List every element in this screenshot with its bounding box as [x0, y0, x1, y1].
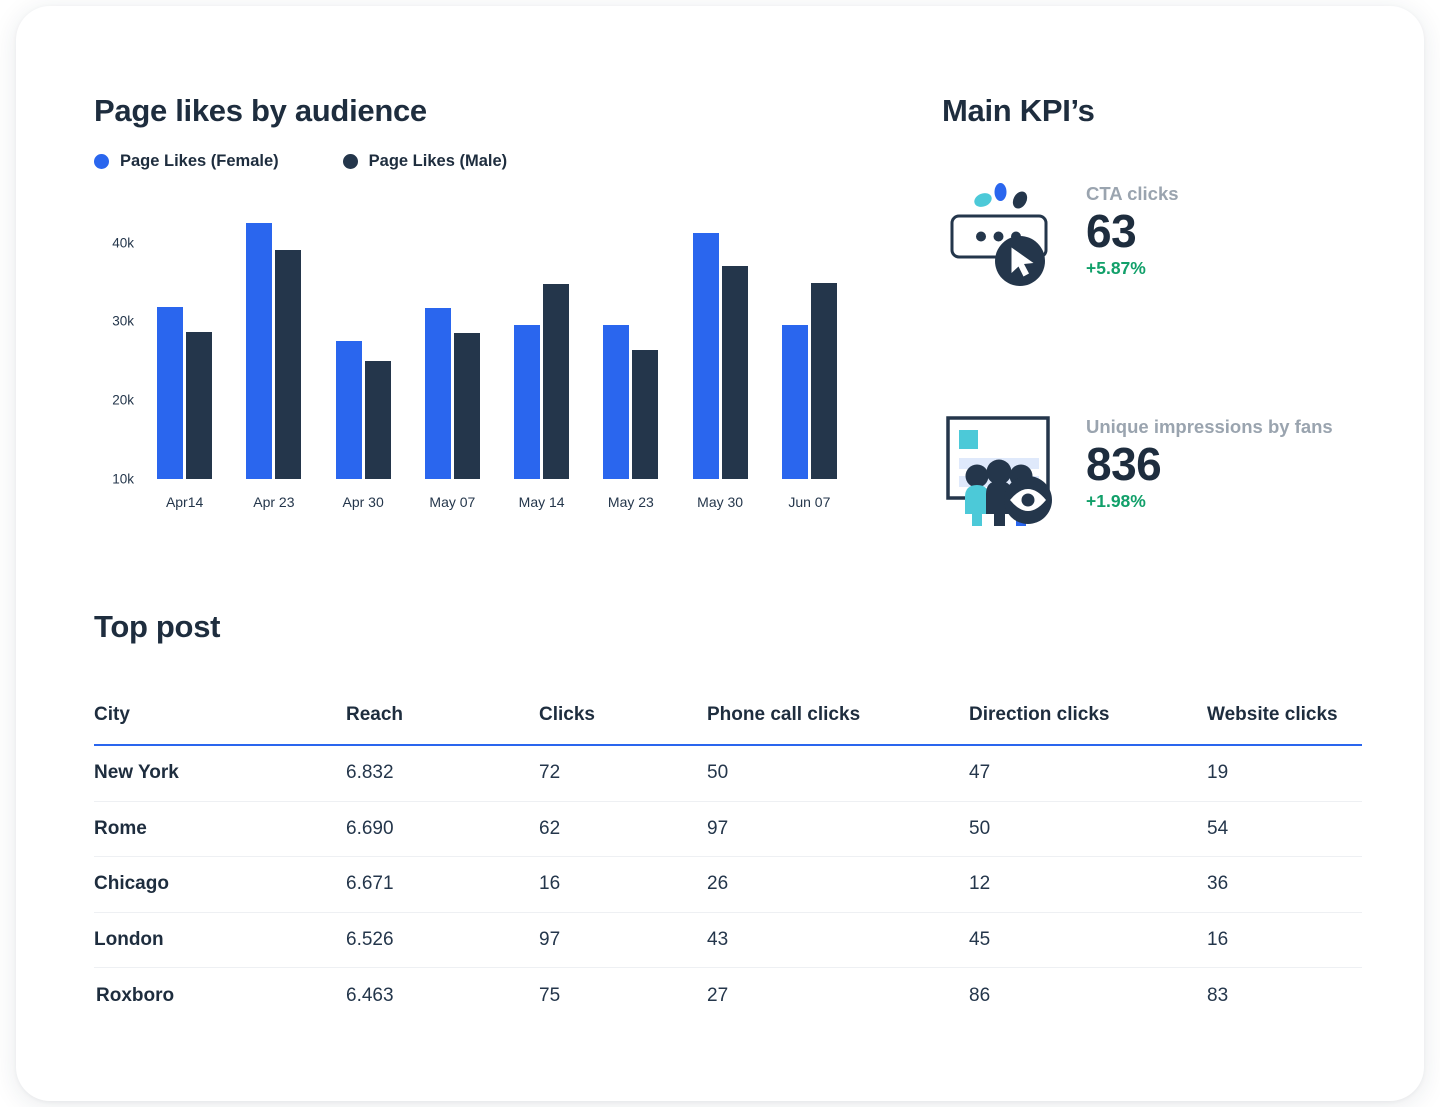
table-cell-reach: 6.671: [346, 873, 539, 895]
legend-dot-icon: [94, 154, 109, 169]
legend-label-female: Page Likes (Female): [120, 152, 279, 171]
bar-male[interactable]: [275, 250, 301, 479]
table-cell-city: Chicago: [94, 873, 346, 895]
table-cell-website-clicks: 83: [1207, 985, 1362, 1007]
impressions-eye-icon: [940, 404, 1060, 526]
table-row[interactable]: Rome6.69062975054: [94, 802, 1362, 858]
bar-female[interactable]: [782, 325, 808, 479]
bar-group: [676, 211, 765, 479]
kpi-card-unique-impressions[interactable]: Unique impressions by fans 836 +1.98%: [940, 404, 1333, 526]
bar-female[interactable]: [603, 325, 629, 479]
table-column-header[interactable]: Clicks: [539, 704, 707, 726]
y-axis-tick-label: 40k: [112, 235, 134, 250]
y-axis-tick-label: 30k: [112, 314, 134, 329]
table-cell-website-clicks: 19: [1207, 762, 1362, 784]
kpi-value: 63: [1086, 207, 1179, 257]
table-cell-clicks: 75: [539, 985, 707, 1007]
table-cell-website-clicks: 16: [1207, 929, 1362, 951]
table-column-header[interactable]: Reach: [346, 704, 539, 726]
x-axis-tick-label: May 30: [676, 494, 765, 510]
x-axis-tick-label: May 23: [586, 494, 675, 510]
top-post-table: CityReachClicksPhone call clicksDirectio…: [94, 704, 1362, 1024]
kpi-label: Unique impressions by fans: [1086, 416, 1333, 438]
table-cell-website-clicks: 36: [1207, 873, 1362, 895]
bar-group: [140, 211, 229, 479]
bar-female[interactable]: [693, 233, 719, 479]
table-column-header[interactable]: Direction clicks: [969, 704, 1207, 726]
cta-click-icon: [940, 171, 1060, 293]
table-cell-clicks: 97: [539, 929, 707, 951]
y-axis-tick-label: 20k: [112, 393, 134, 408]
chart-x-axis: Apr14Apr 23Apr 30May 07May 14May 23May 3…: [140, 494, 854, 510]
table-cell-reach: 6.463: [346, 985, 539, 1007]
page-title-page-likes: Page likes by audience: [94, 93, 427, 129]
bar-female[interactable]: [157, 307, 183, 479]
bar-male[interactable]: [454, 333, 480, 479]
table-cell-clicks: 62: [539, 818, 707, 840]
page-likes-bar-chart: 40k30k20k10k Apr14Apr 23Apr 30May 07May …: [94, 211, 854, 526]
dashboard-card: Page likes by audience Page Likes (Femal…: [16, 6, 1424, 1101]
table-cell-phone-call-clicks: 97: [707, 818, 969, 840]
table-column-header[interactable]: City: [94, 704, 346, 726]
bar-group: [319, 211, 408, 479]
x-axis-tick-label: Apr 30: [319, 494, 408, 510]
kpi-text-block: CTA clicks 63 +5.87%: [1086, 183, 1179, 282]
chart-legend: Page Likes (Female) Page Likes (Male): [94, 152, 507, 171]
table-cell-clicks: 72: [539, 762, 707, 784]
table-column-header[interactable]: Phone call clicks: [707, 704, 969, 726]
kpi-text-block: Unique impressions by fans 836 +1.98%: [1086, 416, 1333, 515]
chart-y-axis: 40k30k20k10k: [94, 211, 134, 479]
table-cell-website-clicks: 54: [1207, 818, 1362, 840]
table-body: New York6.83272504719Rome6.69062975054Ch…: [94, 746, 1362, 1024]
x-axis-tick-label: Apr 23: [229, 494, 318, 510]
table-cell-direction-clicks: 86: [969, 985, 1207, 1007]
bar-male[interactable]: [365, 361, 391, 479]
x-axis-tick-label: Apr14: [140, 494, 229, 510]
table-cell-phone-call-clicks: 27: [707, 985, 969, 1007]
bar-group: [765, 211, 854, 479]
table-row[interactable]: Chicago6.67116261236: [94, 857, 1362, 913]
kpi-card-cta-clicks[interactable]: CTA clicks 63 +5.87%: [940, 171, 1179, 293]
table-cell-clicks: 16: [539, 873, 707, 895]
legend-dot-icon: [343, 154, 358, 169]
x-axis-tick-label: May 07: [408, 494, 497, 510]
table-cell-reach: 6.690: [346, 818, 539, 840]
table-cell-phone-call-clicks: 50: [707, 762, 969, 784]
kpi-value: 836: [1086, 440, 1333, 490]
bar-female[interactable]: [246, 223, 272, 479]
table-cell-phone-call-clicks: 26: [707, 873, 969, 895]
bar-female[interactable]: [336, 341, 362, 479]
legend-item-male[interactable]: Page Likes (Male): [343, 152, 507, 171]
bar-group: [586, 211, 675, 479]
table-cell-reach: 6.832: [346, 762, 539, 784]
kpi-label: CTA clicks: [1086, 183, 1179, 205]
bar-female[interactable]: [514, 325, 540, 479]
table-cell-phone-call-clicks: 43: [707, 929, 969, 951]
page-title-top-post: Top post: [94, 609, 220, 645]
legend-label-male: Page Likes (Male): [369, 152, 507, 171]
kpi-delta-badge: +5.87%: [1086, 258, 1179, 279]
table-cell-direction-clicks: 47: [969, 762, 1207, 784]
table-cell-direction-clicks: 45: [969, 929, 1207, 951]
table-cell-city: London: [94, 929, 346, 951]
bar-female[interactable]: [425, 308, 451, 479]
bar-male[interactable]: [543, 284, 569, 479]
dashboard-page: Page likes by audience Page Likes (Femal…: [0, 0, 1440, 1107]
bar-male[interactable]: [186, 332, 212, 479]
x-axis-tick-label: Jun 07: [765, 494, 854, 510]
table-cell-city: New York: [94, 762, 346, 784]
bar-male[interactable]: [722, 266, 748, 479]
legend-item-female[interactable]: Page Likes (Female): [94, 152, 279, 171]
table-cell-city: Rome: [94, 818, 346, 840]
table-cell-direction-clicks: 50: [969, 818, 1207, 840]
page-title-main-kpis: Main KPI’s: [942, 93, 1095, 129]
table-cell-direction-clicks: 12: [969, 873, 1207, 895]
y-axis-tick-label: 10k: [112, 472, 134, 487]
table-header-row: CityReachClicksPhone call clicksDirectio…: [94, 704, 1362, 746]
bar-male[interactable]: [811, 283, 837, 479]
table-cell-city: Roxboro: [94, 985, 346, 1007]
table-cell-reach: 6.526: [346, 929, 539, 951]
chart-plot-area: [140, 211, 854, 479]
bar-male[interactable]: [632, 350, 658, 479]
bar-group: [408, 211, 497, 479]
bar-group: [497, 211, 586, 479]
table-row[interactable]: London6.52697434516: [94, 913, 1362, 969]
table-row[interactable]: New York6.83272504719: [94, 746, 1362, 802]
table-row[interactable]: Roxboro6.46375278683: [94, 968, 1362, 1024]
bar-group: [229, 211, 318, 479]
table-column-header[interactable]: Website clicks: [1207, 704, 1362, 726]
kpi-delta-badge: +1.98%: [1086, 491, 1333, 512]
x-axis-tick-label: May 14: [497, 494, 586, 510]
